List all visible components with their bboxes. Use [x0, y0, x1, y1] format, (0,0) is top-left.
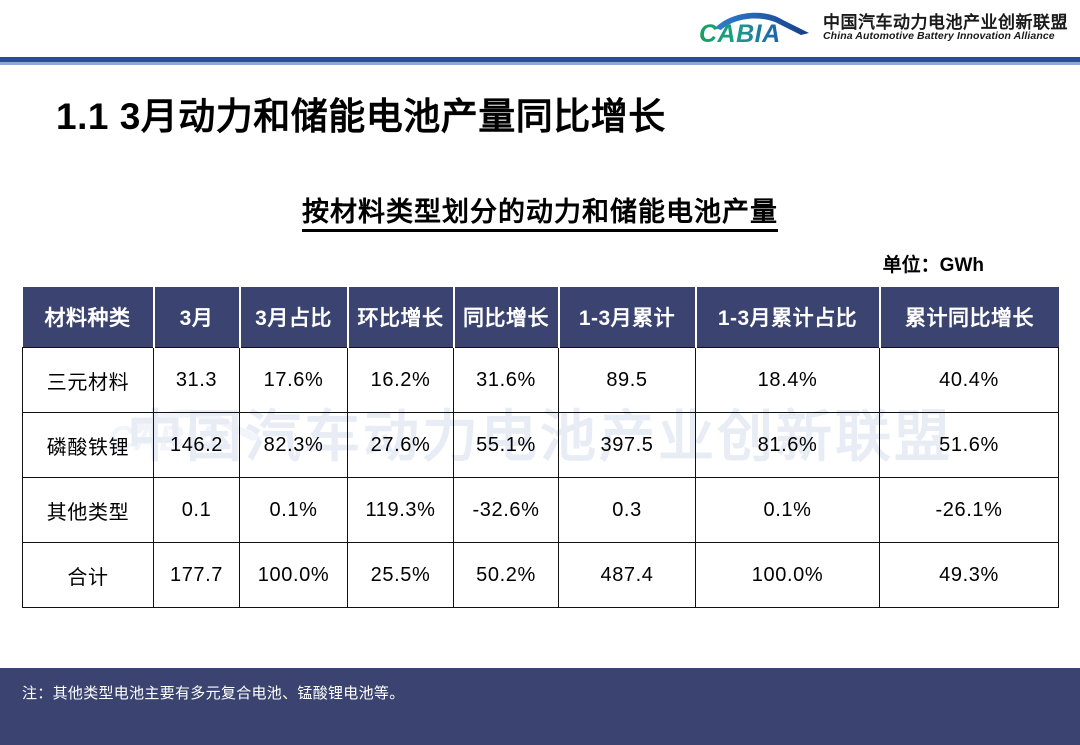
cell-march: 31.3: [154, 348, 240, 413]
cell-cumulative: 487.4: [559, 543, 696, 608]
header-rule-light: [0, 62, 1080, 65]
battery-output-table: 材料种类 3月 3月占比 环比增长 同比增长 1-3月累计 1-3月累计占比 累…: [22, 287, 1058, 608]
cell-category: 合计: [23, 543, 154, 608]
column-header-cumulative-share[interactable]: 1-3月累计占比: [696, 287, 880, 348]
cabia-logo-icon: CABIA: [691, 6, 813, 50]
cell-category: 其他类型: [23, 478, 154, 543]
cell-cumulative-share: 100.0%: [696, 543, 880, 608]
cell-march: 177.7: [154, 543, 240, 608]
cell-cumulative-yoy: 40.4%: [880, 348, 1059, 413]
cell-cumulative-share: 18.4%: [696, 348, 880, 413]
column-header-yoy-growth[interactable]: 同比增长: [454, 287, 559, 348]
column-header-cumulative-yoy[interactable]: 累计同比增长: [880, 287, 1059, 348]
cell-mom-growth: 25.5%: [348, 543, 454, 608]
column-header-category[interactable]: 材料种类: [23, 287, 154, 348]
svg-text:CABIA: CABIA: [699, 20, 781, 48]
cell-cumulative-share: 0.1%: [696, 478, 880, 543]
cell-march-share: 0.1%: [240, 478, 348, 543]
column-header-march[interactable]: 3月: [154, 287, 240, 348]
brand-name-en: China Automotive Battery Innovation Alli…: [823, 31, 1068, 42]
cabia-logo: CABIA 中国汽车动力电池产业创新联盟 China Automotive Ba…: [691, 6, 1068, 50]
table-row: 其他类型 0.1 0.1% 119.3% -32.6% 0.3 0.1% -26…: [23, 478, 1059, 543]
footnote-text: 注：其他类型电池主要有多元复合电池、锰酸锂电池等。: [22, 682, 405, 703]
cell-cumulative: 89.5: [559, 348, 696, 413]
cell-march-share: 82.3%: [240, 413, 348, 478]
table-header-row: 材料种类 3月 3月占比 环比增长 同比增长 1-3月累计 1-3月累计占比 累…: [23, 287, 1059, 348]
cell-cumulative-yoy: -26.1%: [880, 478, 1059, 543]
cell-mom-growth: 119.3%: [348, 478, 454, 543]
cell-category: 三元材料: [23, 348, 154, 413]
cell-march-share: 100.0%: [240, 543, 348, 608]
column-header-march-share[interactable]: 3月占比: [240, 287, 348, 348]
cell-category: 磷酸铁锂: [23, 413, 154, 478]
column-header-mom-growth[interactable]: 环比增长: [348, 287, 454, 348]
cell-mom-growth: 27.6%: [348, 413, 454, 478]
cell-cumulative-yoy: 49.3%: [880, 543, 1059, 608]
cell-march-share: 17.6%: [240, 348, 348, 413]
cell-yoy-growth: 50.2%: [454, 543, 559, 608]
unit-label: 单位：GWh: [883, 250, 984, 277]
page-title: 1.1 3月动力和储能电池产量同比增长: [56, 86, 666, 140]
cell-yoy-growth: 31.6%: [454, 348, 559, 413]
table-row: 磷酸铁锂 146.2 82.3% 27.6% 55.1% 397.5 81.6%…: [23, 413, 1059, 478]
cell-cumulative-yoy: 51.6%: [880, 413, 1059, 478]
section-title: 按材料类型划分的动力和储能电池产量: [0, 190, 1080, 229]
cell-cumulative: 0.3: [559, 478, 696, 543]
cell-mom-growth: 16.2%: [348, 348, 454, 413]
brand-header: CABIA 中国汽车动力电池产业创新联盟 China Automotive Ba…: [0, 0, 1080, 56]
cell-yoy-growth: -32.6%: [454, 478, 559, 543]
cell-yoy-growth: 55.1%: [454, 413, 559, 478]
footnote-band: 注：其他类型电池主要有多元复合电池、锰酸锂电池等。: [0, 668, 1080, 745]
brand-name-cn: 中国汽车动力电池产业创新联盟: [823, 14, 1068, 32]
column-header-cumulative[interactable]: 1-3月累计: [559, 287, 696, 348]
cell-cumulative: 397.5: [559, 413, 696, 478]
table-row: 三元材料 31.3 17.6% 16.2% 31.6% 89.5 18.4% 4…: [23, 348, 1059, 413]
section-title-text: 按材料类型划分的动力和储能电池产量: [302, 197, 778, 232]
table-row-total: 合计 177.7 100.0% 25.5% 50.2% 487.4 100.0%…: [23, 543, 1059, 608]
cell-march: 146.2: [154, 413, 240, 478]
cell-march: 0.1: [154, 478, 240, 543]
cell-cumulative-share: 81.6%: [696, 413, 880, 478]
